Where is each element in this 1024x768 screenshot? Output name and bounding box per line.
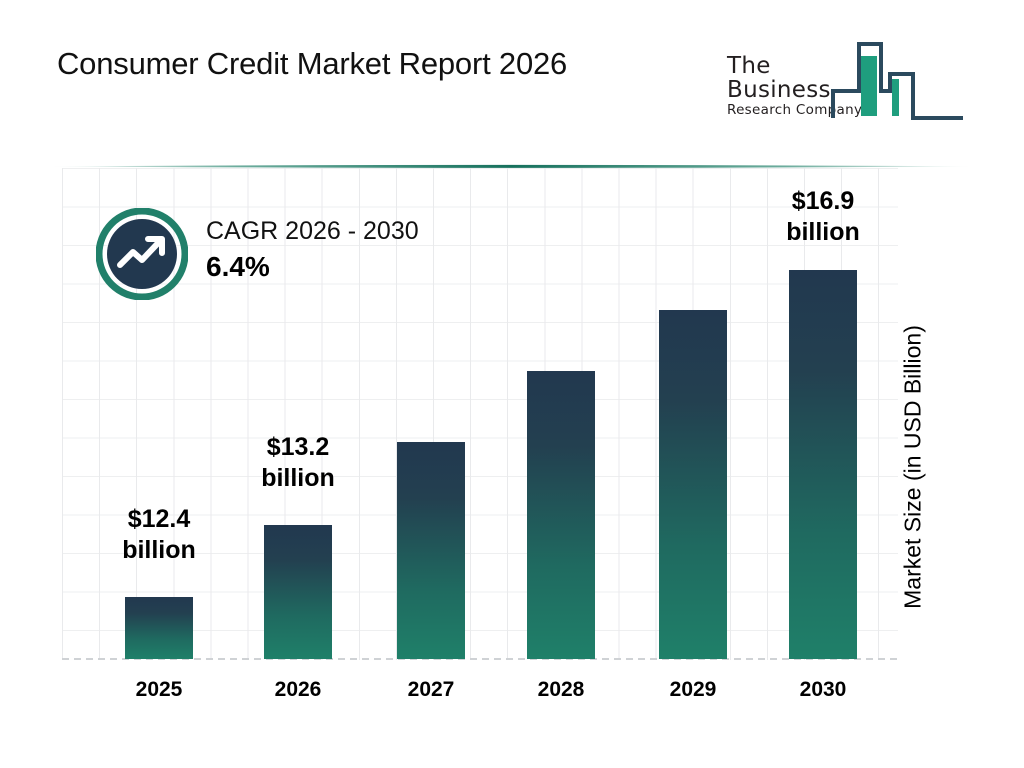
bar-value-label-2030-line1: $16.9	[763, 186, 883, 217]
bar-value-label-2030-line2: billion	[763, 217, 883, 248]
cagr-period-label: CAGR 2026 - 2030	[206, 214, 496, 248]
bar-2029[interactable]	[659, 310, 727, 659]
bar-value-label-2025-line1: $12.4	[99, 504, 219, 535]
cagr-value-label: 6.4%	[206, 248, 496, 286]
bar-2026[interactable]	[264, 525, 332, 659]
bar-value-label-2025: $12.4 billion	[99, 504, 219, 566]
bar-2028[interactable]	[527, 371, 595, 659]
bar-value-label-2026-line1: $13.2	[238, 432, 358, 463]
page-title: Consumer Credit Market Report 2026	[57, 46, 567, 82]
bar-value-label-2026: $13.2 billion	[238, 432, 358, 494]
bar-value-label-2025-line2: billion	[99, 535, 219, 566]
bar-2027[interactable]	[397, 442, 465, 659]
bar-value-label-2026-line2: billion	[238, 463, 358, 494]
y-axis-label-text: Market Size (in USD Billion)	[900, 325, 927, 609]
x-tick-2028: 2028	[501, 678, 621, 702]
bar-value-label-2030: $16.9 billion	[763, 186, 883, 248]
x-tick-2029: 2029	[633, 678, 753, 702]
x-tick-2025: 2025	[99, 678, 219, 702]
header: Consumer Credit Market Report 2026 The B…	[0, 0, 1024, 158]
x-tick-2027: 2027	[371, 678, 491, 702]
cagr-callout: CAGR 2026 - 2030 6.4%	[96, 198, 496, 308]
x-tick-2030: 2030	[763, 678, 883, 702]
header-divider	[52, 156, 970, 161]
cagr-text-block: CAGR 2026 - 2030 6.4%	[206, 214, 496, 286]
company-logo: The Business Research Company	[727, 38, 967, 122]
x-tick-2026: 2026	[238, 678, 358, 702]
cagr-badge-icon	[96, 208, 188, 300]
bar-chart-step-logo-mark	[831, 38, 967, 122]
bar-2030[interactable]	[789, 270, 857, 659]
y-axis-label: Market Size (in USD Billion)	[898, 272, 928, 662]
bar-2025[interactable]	[125, 597, 193, 659]
